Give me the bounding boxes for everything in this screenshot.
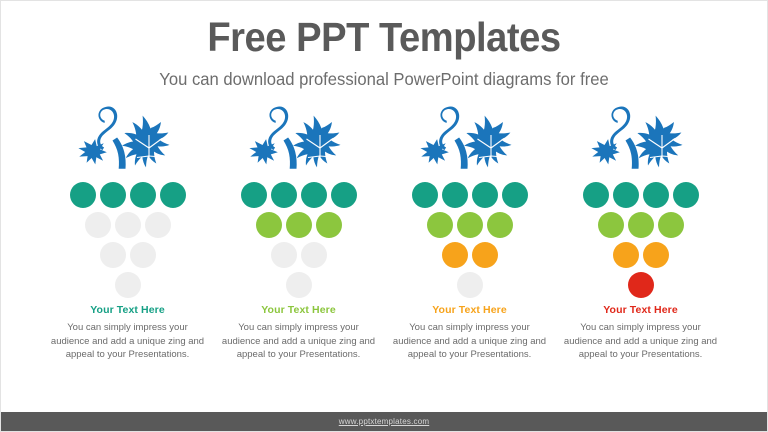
berry-circle[interactable] [643,242,669,268]
berry-circle[interactable] [160,182,186,208]
slide-footer: www.pptxtemplates.com [1,412,767,431]
berry-row-2 [256,212,342,238]
berry-row-3 [613,242,669,268]
berry-row-2 [85,212,171,238]
berry-circle[interactable] [427,212,453,238]
grape-bunch-icon [58,104,198,300]
vine-leaf-icon [235,104,361,194]
berry-circle[interactable] [85,212,111,238]
grape-bunch-icon [571,104,711,300]
berry-circle[interactable] [115,212,141,238]
berry-circle[interactable] [472,182,498,208]
berry-row-2 [427,212,513,238]
slide-header: Free PPT Templates You can download prof… [1,1,767,90]
vine-leaf-icon [577,104,703,194]
berry-circle[interactable] [487,212,513,238]
berry-circle[interactable] [673,182,699,208]
grape-diagram: Your Text HereYou can simply impress you… [1,90,767,412]
berry-circle[interactable] [100,242,126,268]
berry-circle[interactable] [286,212,312,238]
berry-row-4 [457,272,483,298]
vine-leaf-icon [406,104,532,194]
berry-circle[interactable] [241,182,267,208]
berry-circle[interactable] [271,242,297,268]
berry-circle[interactable] [583,182,609,208]
column-caption: Your Text HereYou can simply impress you… [555,304,726,362]
vine-leaf-icon [64,104,190,194]
berry-circle[interactable] [613,182,639,208]
caption-heading: Your Text Here [384,304,555,316]
berry-row-3 [442,242,498,268]
berry-circle[interactable] [628,272,654,298]
berry-circle[interactable] [130,242,156,268]
berry-row-2 [598,212,684,238]
column-caption: Your Text HereYou can simply impress you… [42,304,213,362]
diagram-column-3[interactable]: Your Text HereYou can simply impress you… [384,104,555,362]
berry-row-1 [70,182,186,208]
caption-body: You can simply impress your audience and… [42,321,213,362]
column-caption: Your Text HereYou can simply impress you… [213,304,384,362]
caption-body: You can simply impress your audience and… [213,321,384,362]
berry-circle[interactable] [613,242,639,268]
berry-circle[interactable] [316,212,342,238]
diagram-column-2[interactable]: Your Text HereYou can simply impress you… [213,104,384,362]
berry-circle[interactable] [442,182,468,208]
diagram-column-4[interactable]: Your Text HereYou can simply impress you… [555,104,726,362]
berry-row-4 [628,272,654,298]
berry-circle[interactable] [100,182,126,208]
berry-circle[interactable] [70,182,96,208]
berry-circle[interactable] [331,182,357,208]
berry-circle[interactable] [658,212,684,238]
berry-circle[interactable] [115,272,141,298]
diagram-column-1[interactable]: Your Text HereYou can simply impress you… [42,104,213,362]
berry-rows [229,182,369,298]
berry-circle[interactable] [301,182,327,208]
caption-heading: Your Text Here [213,304,384,316]
berry-row-1 [241,182,357,208]
berry-rows [571,182,711,298]
berry-row-3 [100,242,156,268]
berry-row-3 [271,242,327,268]
caption-body: You can simply impress your audience and… [555,321,726,362]
caption-body: You can simply impress your audience and… [384,321,555,362]
berry-row-4 [115,272,141,298]
berry-circle[interactable] [472,242,498,268]
berry-circle[interactable] [502,182,528,208]
berry-circle[interactable] [628,212,654,238]
slide-canvas: Free PPT Templates You can download prof… [0,0,768,432]
grape-bunch-icon [229,104,369,300]
berry-row-1 [412,182,528,208]
berry-circle[interactable] [301,242,327,268]
berry-circle[interactable] [130,182,156,208]
berry-circle[interactable] [286,272,312,298]
page-title: Free PPT Templates [28,15,740,61]
berry-row-4 [286,272,312,298]
page-subtitle: You can download professional PowerPoint… [20,69,748,90]
berry-rows [400,182,540,298]
berry-circle[interactable] [145,212,171,238]
footer-website-link[interactable]: www.pptxtemplates.com [339,417,429,426]
berry-rows [58,182,198,298]
caption-heading: Your Text Here [555,304,726,316]
berry-circle[interactable] [412,182,438,208]
caption-heading: Your Text Here [42,304,213,316]
berry-circle[interactable] [598,212,624,238]
berry-circle[interactable] [442,242,468,268]
berry-circle[interactable] [457,212,483,238]
berry-row-1 [583,182,699,208]
berry-circle[interactable] [256,212,282,238]
berry-circle[interactable] [271,182,297,208]
berry-circle[interactable] [643,182,669,208]
grape-bunch-icon [400,104,540,300]
berry-circle[interactable] [457,272,483,298]
column-caption: Your Text HereYou can simply impress you… [384,304,555,362]
